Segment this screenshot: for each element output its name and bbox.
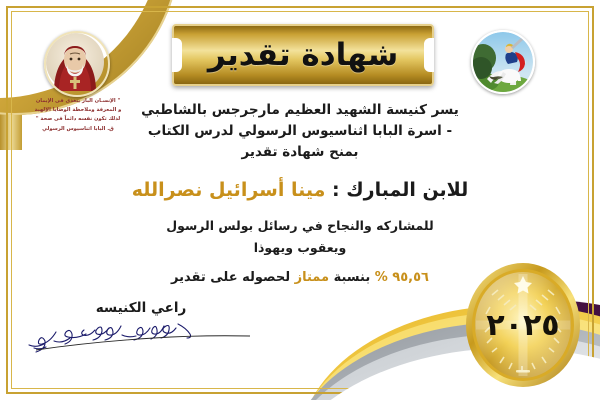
certificate-title: شهادة تقدير bbox=[208, 37, 398, 73]
award-medallion: ٢٠٢٥ bbox=[464, 262, 582, 388]
body-line-1: يسر كنيسة الشهيد العظيم مارجرجس بالشاطبي bbox=[120, 100, 480, 121]
signature-block: راعي الكنيسه bbox=[26, 300, 256, 356]
recipient-name: مينا أسرائيل نصرالله bbox=[132, 179, 326, 201]
recipient-label: للابن المبارك : bbox=[332, 179, 468, 201]
saint-george-portrait-icon bbox=[471, 30, 535, 94]
body-line-2: - اسرة البابا اثناسيوس الرسولي لدرس الكت… bbox=[120, 121, 480, 142]
recipient-line: للابن المبارك : مينا أسرائيل نصرالله bbox=[120, 177, 480, 204]
grade-suffix: بنسبة bbox=[334, 270, 371, 285]
grade-word: ممتاز bbox=[295, 270, 329, 285]
certificate-body: يسر كنيسة الشهيد العظيم مارجرجس بالشاطبي… bbox=[120, 100, 480, 288]
medallion-year: ٢٠٢٥ bbox=[464, 262, 582, 388]
certificate-canvas: شهادة تقدير " الإنسـان البار يتغذى فى ا bbox=[0, 0, 600, 400]
grade-percent: ٩٥,٥٦ % bbox=[375, 270, 429, 285]
body-line-3: بمنح شهادة تقدير bbox=[120, 142, 480, 163]
handwritten-signatures bbox=[26, 314, 256, 356]
title-banner: شهادة تقدير bbox=[172, 24, 434, 86]
achievement-line-2: ويعقوب ويهوذا bbox=[120, 238, 480, 258]
grade-prefix: لحصوله على تقدير bbox=[171, 270, 290, 285]
achievement-line-1: للمشاركه والنجاح في رسائل بولس الرسول bbox=[120, 216, 480, 236]
grade-line: ٩٥,٥٦ % بنسبة ممتاز لحصوله على تقدير bbox=[120, 268, 480, 288]
saint-athanasius-portrait-icon bbox=[44, 31, 110, 97]
